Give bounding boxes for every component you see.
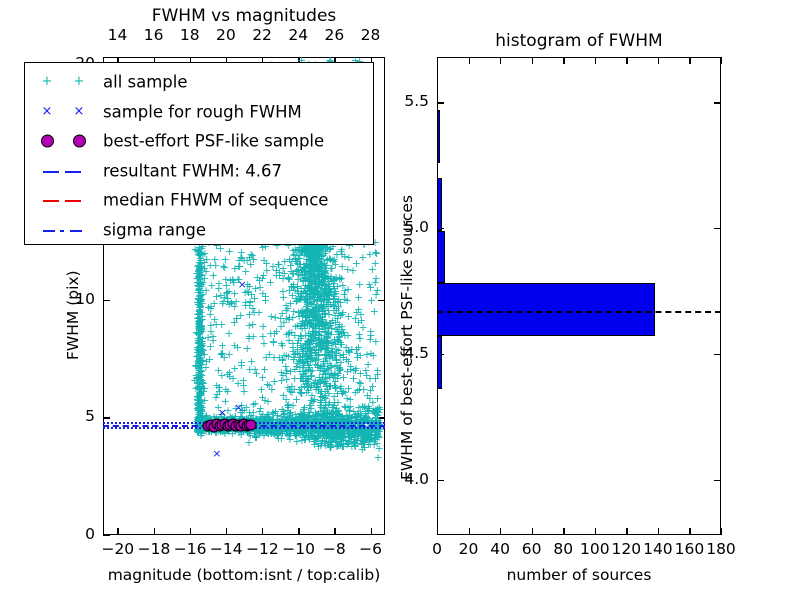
histogram-bar [437,336,442,389]
dashed-line-icon [65,171,81,173]
legend-item[interactable]: ++all sample [25,67,373,97]
legend-label: resultant FWHM: 4.67 [103,161,282,180]
dashed-line-icon [43,171,59,173]
dashdot-line-icon [60,230,64,232]
legend-item[interactable]: sigma range [25,215,373,245]
right-xaxis-label: number of sources [437,568,721,584]
data-point-psf [246,420,257,431]
dashdot-line-icon [43,230,55,232]
data-point-rough: × [234,404,243,412]
plus-icon: + [71,77,87,87]
histogram-bar [437,231,445,284]
legend-box: ++all sample××sample for rough FWHMbest-… [24,62,374,245]
circle-icon [73,135,86,148]
legend-item[interactable]: resultant FWHM: 4.67 [25,156,373,186]
legend-item[interactable]: ××sample for rough FWHM [25,97,373,127]
data-point-rough: × [238,281,247,289]
dashdot-line-icon [70,230,82,232]
cross-icon: × [71,107,87,117]
histogram-bar [437,283,655,336]
circle-icon [41,135,54,148]
dashed-line-icon [65,200,81,202]
plus-icon: + [39,77,55,87]
legend-label: best-effort PSF-like sample [103,132,324,151]
legend-label: median FHWM of sequence [103,191,328,210]
legend-label: sample for rough FWHM [103,102,302,121]
legend-item[interactable]: best-effort PSF-like sample [25,126,373,156]
histogram-median-line [437,311,721,313]
cross-icon: × [39,107,55,117]
data-point-rough: × [212,450,221,458]
histogram-bar [437,110,440,163]
legend-item[interactable]: median FHWM of sequence [25,185,373,215]
figure-canvas: FWHM vs magnitudes 1416182022242628 −20−… [0,0,800,600]
right-yaxis-label: FWHM of best-effort PSF-like sources [398,195,416,480]
legend-label: sigma range [103,220,206,239]
dashed-line-icon [43,200,59,202]
legend-label: all sample [103,73,188,92]
histogram-bar [437,178,442,231]
